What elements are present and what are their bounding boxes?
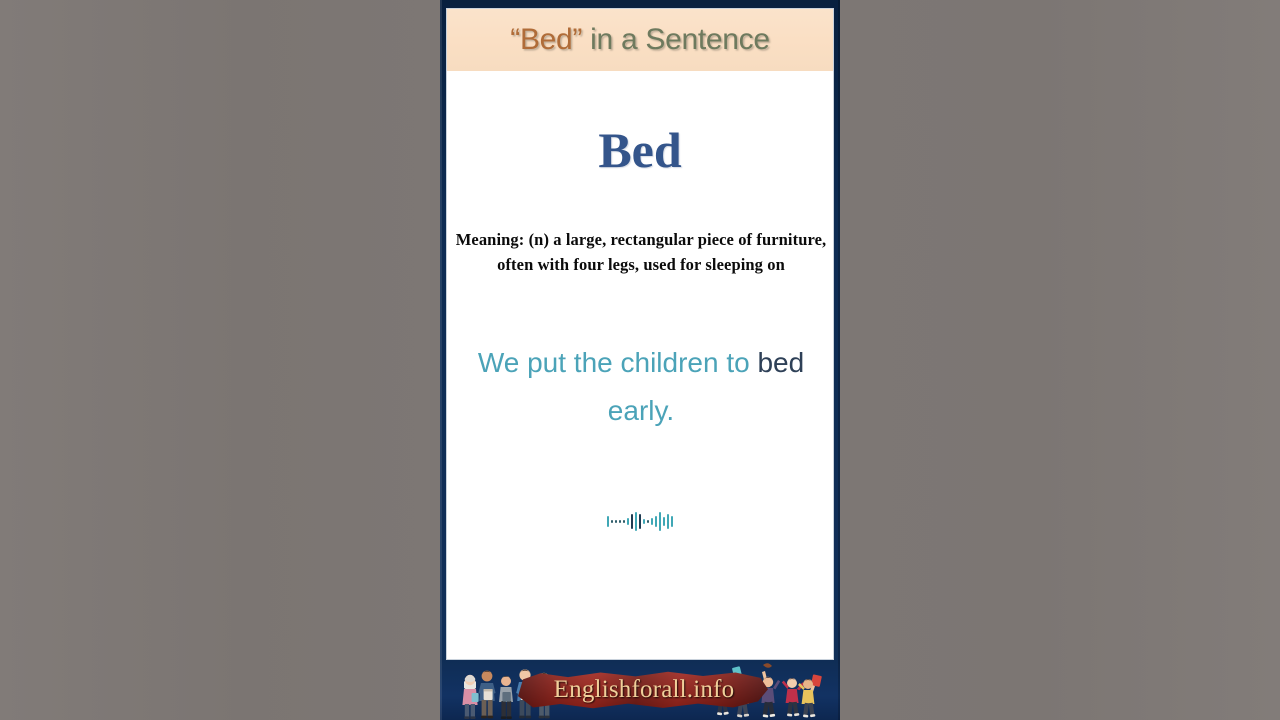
letterbox-backdrop-right (840, 0, 1280, 720)
waveform-bar (647, 520, 649, 523)
waveform-bar (663, 517, 665, 526)
sentence-part-after: early. (608, 395, 674, 426)
sentence-part-before: We put the children to (478, 347, 758, 378)
waveform-bar (619, 520, 621, 523)
definition-text: Meaning: (n) a large, rectangular piece … (455, 227, 827, 277)
waveform-bar (627, 518, 629, 525)
example-sentence: We put the children to bed early. (461, 339, 821, 435)
footer-branding-bar: Englishforall.info (440, 660, 840, 720)
waveform-bar (635, 512, 637, 531)
title-quoted-word: “Bed” (510, 23, 582, 56)
waveform-bar (651, 518, 653, 525)
headword: Bed (447, 121, 833, 179)
waveform-bar (611, 520, 613, 523)
waveform-bar (639, 514, 641, 529)
waveform-bar (659, 512, 661, 531)
site-wordmark: Englishforall.info (518, 672, 770, 708)
letterbox-backdrop-left (0, 0, 440, 720)
waveform-bar (615, 520, 617, 523)
title-banner: “Bed” in a Sentence (447, 9, 833, 71)
video-player-frame[interactable]: “Bed” in a Sentence Bed Meaning: (n) a l… (440, 0, 840, 720)
frame-edge-left (440, 0, 442, 720)
waveform-bar (643, 519, 645, 524)
screenshot-stage: “Bed” in a Sentence Bed Meaning: (n) a l… (0, 0, 1280, 720)
sentence-keyword: bed (757, 347, 804, 378)
page-title: “Bed” in a Sentence (510, 23, 769, 57)
waveform-bar (671, 516, 673, 527)
waveform-bar (655, 516, 657, 527)
slide-card: “Bed” in a Sentence Bed Meaning: (n) a l… (446, 8, 834, 660)
audio-waveform-icon[interactable] (447, 507, 833, 535)
waveform-bar (607, 516, 609, 527)
waveform-bar (631, 514, 633, 529)
waveform-bar (667, 514, 669, 529)
frame-edge-right (838, 0, 840, 720)
title-rest: in a Sentence (582, 23, 770, 56)
waveform-bar (623, 520, 625, 523)
